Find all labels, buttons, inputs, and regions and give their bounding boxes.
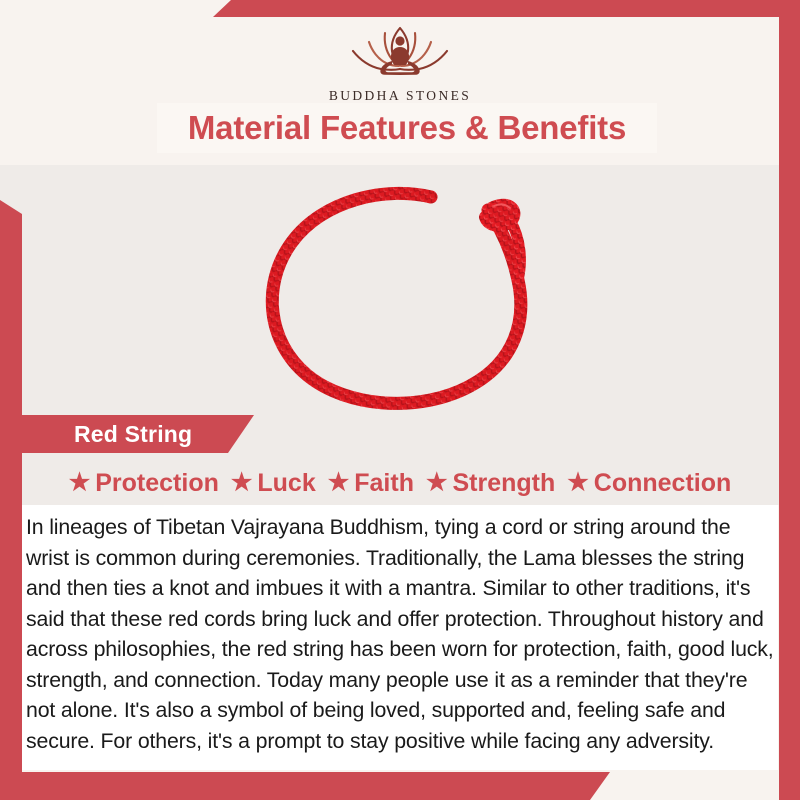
- decorative-band-top-right: [213, 0, 800, 17]
- description-text: In lineages of Tibetan Vajrayana Buddhis…: [26, 512, 774, 756]
- star-icon: ★: [231, 471, 253, 495]
- lotus-meditation-icon: [325, 18, 475, 84]
- product-image-area: [0, 165, 800, 425]
- red-string-braided-bracelet-icon: [235, 170, 565, 420]
- product-label: Red String: [74, 421, 192, 448]
- star-icon: ★: [567, 471, 589, 495]
- product-label-ribbon: Red String: [22, 415, 254, 453]
- page-title: Material Features & Benefits: [188, 109, 626, 147]
- decorative-band-bottom-left: [0, 772, 610, 800]
- benefit-item-luck: ★ Luck: [226, 469, 321, 498]
- brand-name: BUDDHA STONES: [329, 88, 471, 104]
- infographic-page: BUDDHA STONES Material Features & Benefi…: [0, 0, 800, 800]
- benefit-label: Connection: [594, 469, 732, 498]
- star-icon: ★: [328, 471, 350, 495]
- benefit-label: Luck: [257, 469, 315, 498]
- benefit-item-strength: ★ Strength: [421, 469, 560, 498]
- benefit-label: Strength: [452, 469, 555, 498]
- benefit-item-protection: ★ Protection: [64, 469, 224, 498]
- benefit-label: Faith: [354, 469, 414, 498]
- benefits-list: ★ Protection ★ Luck ★ Faith ★ Strength ★…: [22, 462, 778, 504]
- title-banner: Material Features & Benefits: [157, 103, 657, 153]
- star-icon: ★: [426, 471, 448, 495]
- brand-logo: BUDDHA STONES: [0, 18, 800, 104]
- benefit-label: Protection: [95, 469, 219, 498]
- benefit-item-connection: ★ Connection: [562, 469, 736, 498]
- benefit-item-faith: ★ Faith: [323, 469, 419, 498]
- star-icon: ★: [69, 471, 91, 495]
